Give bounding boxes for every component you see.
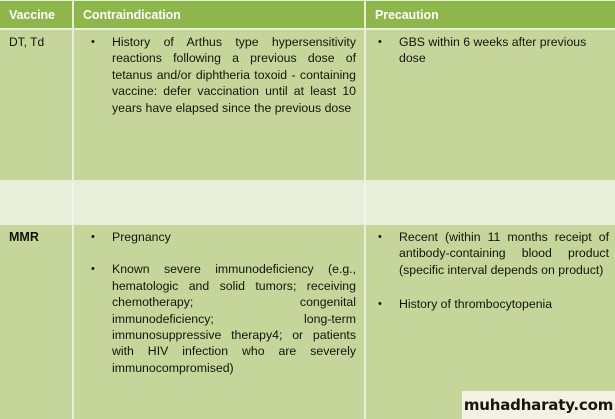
contraindication-list: • History of Arthus type hypersensitivit… xyxy=(74,34,356,116)
vaccine-contraindication-table: Vaccine Contraindication Precaution DT, … xyxy=(0,0,615,419)
column-header-vaccine-label: Vaccine xyxy=(9,8,55,22)
list-item: • Recent (within 11 months receipt of an… xyxy=(366,229,609,278)
spacer-cell-precaution xyxy=(366,182,615,223)
watermark-text: muhadharaty.com xyxy=(464,396,613,414)
row-vaccine-cell: MMR xyxy=(0,225,74,419)
column-header-precaution: Precaution xyxy=(366,1,615,28)
precaution-list: • Recent (within 11 months receipt of an… xyxy=(366,229,609,313)
table-spacer-row xyxy=(0,182,615,223)
row-vaccine-label: DT, Td xyxy=(9,35,44,49)
list-item-text: History of thrombocytopenia xyxy=(399,297,552,311)
bullet-icon: • xyxy=(378,34,382,50)
list-item-text: GBS within 6 weeks after previous dose xyxy=(399,35,586,65)
column-header-precaution-label: Precaution xyxy=(375,8,439,22)
row-vaccine-label: MMR xyxy=(9,230,39,244)
list-item: • Known severe immunodeficiency (e.g., h… xyxy=(74,261,356,376)
contraindication-list: • Pregnancy • Known severe immunodeficie… xyxy=(74,229,356,376)
list-item-text: Known severe immunodeficiency (e.g., hem… xyxy=(112,262,356,374)
row-contraindication-cell: • Pregnancy • Known severe immunodeficie… xyxy=(74,225,366,419)
table-row: DT, Td • History of Arthus type hypersen… xyxy=(0,30,615,180)
list-item-text: Pregnancy xyxy=(112,230,171,244)
list-item: • GBS within 6 weeks after previous dose xyxy=(366,34,609,67)
table-row: MMR • Pregnancy • Known severe immunodef… xyxy=(0,225,615,419)
watermark: muhadharaty.com xyxy=(462,391,615,419)
list-item: • History of thrombocytopenia xyxy=(366,296,609,312)
spacer-cell-vaccine xyxy=(0,182,74,223)
column-header-vaccine: Vaccine xyxy=(0,1,74,28)
table-header-row: Vaccine Contraindication Precaution xyxy=(0,1,615,28)
list-item: • History of Arthus type hypersensitivit… xyxy=(74,34,356,116)
bullet-icon: • xyxy=(91,34,95,50)
list-item-text: Recent (within 11 months receipt of anti… xyxy=(399,230,609,277)
bullet-icon: • xyxy=(91,261,95,277)
list-item-text: History of Arthus type hypersensitivity … xyxy=(112,35,356,115)
row-precaution-cell: • Recent (within 11 months receipt of an… xyxy=(366,225,615,419)
spacer-cell-contraindication xyxy=(74,182,366,223)
row-vaccine-cell: DT, Td xyxy=(0,30,74,180)
bullet-icon: • xyxy=(378,229,382,245)
list-item: • Pregnancy xyxy=(74,229,356,245)
column-header-contraindication: Contraindication xyxy=(74,1,366,28)
bullet-icon: • xyxy=(91,229,95,245)
precaution-list: • GBS within 6 weeks after previous dose xyxy=(366,34,609,67)
row-precaution-cell: • GBS within 6 weeks after previous dose xyxy=(366,30,615,180)
slide-canvas: Vaccine Contraindication Precaution DT, … xyxy=(0,0,615,419)
row-contraindication-cell: • History of Arthus type hypersensitivit… xyxy=(74,30,366,180)
bullet-icon: • xyxy=(378,296,382,312)
column-header-contraindication-label: Contraindication xyxy=(83,8,181,22)
